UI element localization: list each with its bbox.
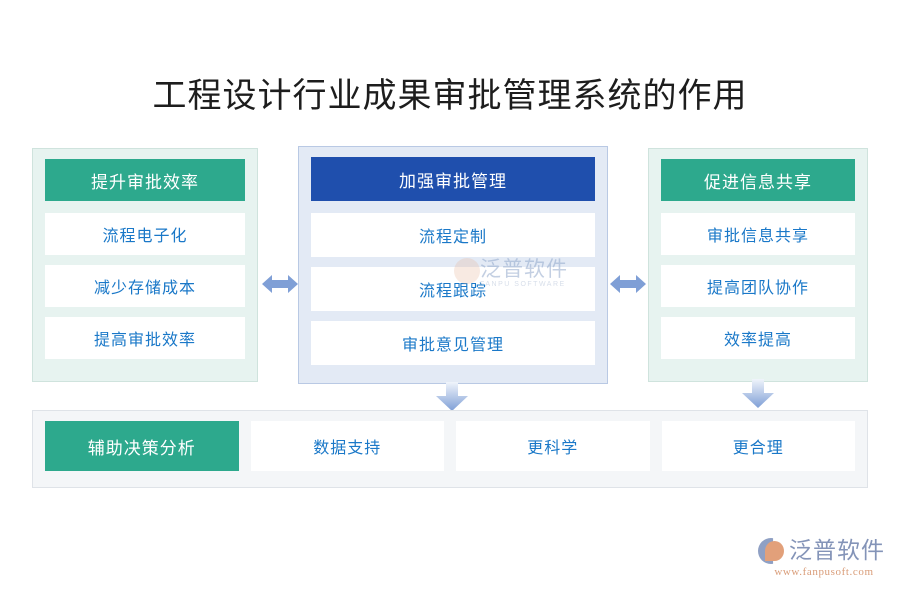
column-right-item-3[interactable]: 效率提高 <box>661 317 855 359</box>
column-middle-item-2[interactable]: 流程跟踪 <box>311 267 595 311</box>
column-middle-header: 加强审批管理 <box>311 157 595 201</box>
column-left-item-3[interactable]: 提高审批效率 <box>45 317 245 359</box>
brand-logo-cn: 泛普软件 <box>789 538 885 564</box>
arrow-down-icon <box>435 382 469 412</box>
column-middle-item-1[interactable]: 流程定制 <box>311 213 595 257</box>
column-right-item-1[interactable]: 审批信息共享 <box>661 213 855 255</box>
bottom-row: 辅助决策分析 数据支持 更科学 更合理 <box>32 410 868 488</box>
column-left: 提升审批效率 流程电子化 减少存储成本 提高审批效率 <box>32 148 258 382</box>
bottom-row-accent[interactable]: 辅助决策分析 <box>45 421 239 471</box>
double-arrow-horizontal-icon <box>610 272 646 296</box>
arrow-down-icon <box>741 379 775 409</box>
double-arrow-horizontal-icon <box>262 272 298 296</box>
bottom-row-item-1[interactable]: 数据支持 <box>251 421 445 471</box>
slide-canvas: 工程设计行业成果审批管理系统的作用 提升审批效率 流程电子化 减少存储成本 提高… <box>0 0 900 600</box>
column-left-item-1[interactable]: 流程电子化 <box>45 213 245 255</box>
column-right: 促进信息共享 审批信息共享 提高团队协作 效率提高 <box>648 148 868 382</box>
column-right-item-2[interactable]: 提高团队协作 <box>661 265 855 307</box>
column-left-item-2[interactable]: 减少存储成本 <box>45 265 245 307</box>
page-title: 工程设计行业成果审批管理系统的作用 <box>0 68 900 117</box>
bottom-row-item-2[interactable]: 更科学 <box>456 421 650 471</box>
column-left-header: 提升审批效率 <box>45 159 245 201</box>
fanpu-logo-icon <box>758 538 784 564</box>
column-middle-item-3[interactable]: 审批意见管理 <box>311 321 595 365</box>
bottom-row-item-3[interactable]: 更合理 <box>662 421 856 471</box>
brand-logo: 泛普软件 www.fanpusoft.com <box>758 538 890 584</box>
column-middle: 加强审批管理 流程定制 流程跟踪 审批意见管理 <box>298 146 608 384</box>
column-right-header: 促进信息共享 <box>661 159 855 201</box>
brand-logo-url: www.fanpusoft.com <box>758 566 890 578</box>
brand-logo-row: 泛普软件 <box>758 538 890 564</box>
